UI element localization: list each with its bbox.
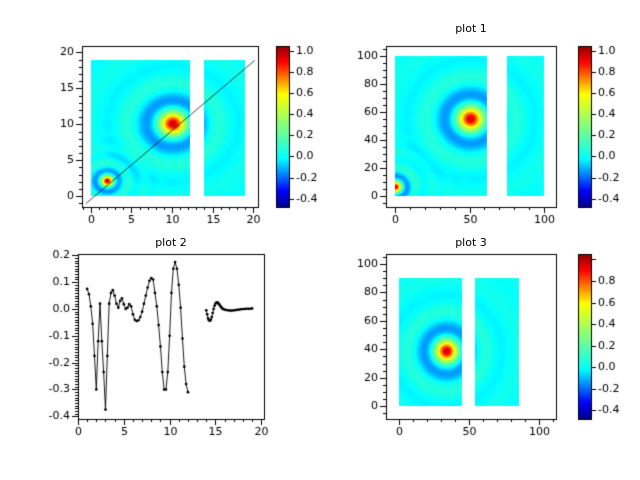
plot-title-3: plot 3 <box>386 236 556 249</box>
plot-title-2: plot 2 <box>78 236 264 249</box>
figure-canvas-root: { "figure": { "width": 640, "height": 48… <box>0 0 640 480</box>
plot-title-1: plot 1 <box>386 22 556 35</box>
